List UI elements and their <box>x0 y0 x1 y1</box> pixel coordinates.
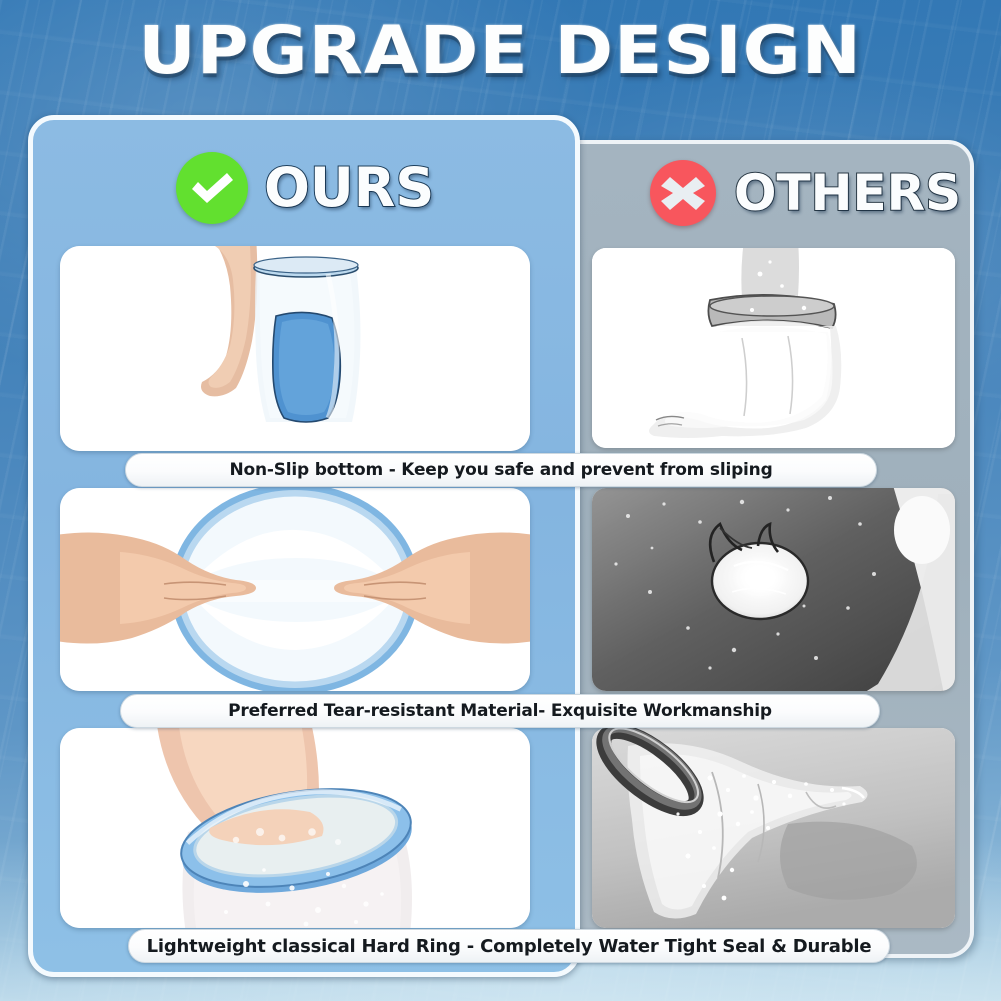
caption-row3: Lightweight classical Hard Ring - Comple… <box>128 929 890 963</box>
product-comparison-poster: UPGRADE DESIGN OURS OTHERS <box>0 0 1001 1001</box>
check-circle-icon <box>176 152 248 224</box>
ours-photo-row1 <box>60 246 530 451</box>
ours-photo-row2 <box>60 488 530 691</box>
caption-row3-text: Lightweight classical Hard Ring - Comple… <box>147 936 872 957</box>
page-title: UPGRADE DESIGN <box>139 18 863 84</box>
others-photo-row3 <box>592 728 955 928</box>
cross-circle-icon <box>650 160 716 226</box>
ours-header-badge: OURS <box>176 152 434 224</box>
ours-label: OURS <box>264 161 434 215</box>
others-photo-row2 <box>592 488 955 691</box>
caption-row1-text: Non-Slip bottom - Keep you safe and prev… <box>229 460 772 480</box>
title-area: UPGRADE DESIGN <box>0 18 1001 84</box>
caption-row2: Preferred Tear-resistant Material- Exqui… <box>120 694 880 728</box>
others-photo-row1 <box>592 248 955 448</box>
caption-row2-text: Preferred Tear-resistant Material- Exqui… <box>228 701 772 721</box>
caption-row1: Non-Slip bottom - Keep you safe and prev… <box>125 453 877 487</box>
others-label: OTHERS <box>734 168 961 218</box>
ours-photo-row3 <box>60 728 530 928</box>
others-header-badge: OTHERS <box>650 160 961 226</box>
